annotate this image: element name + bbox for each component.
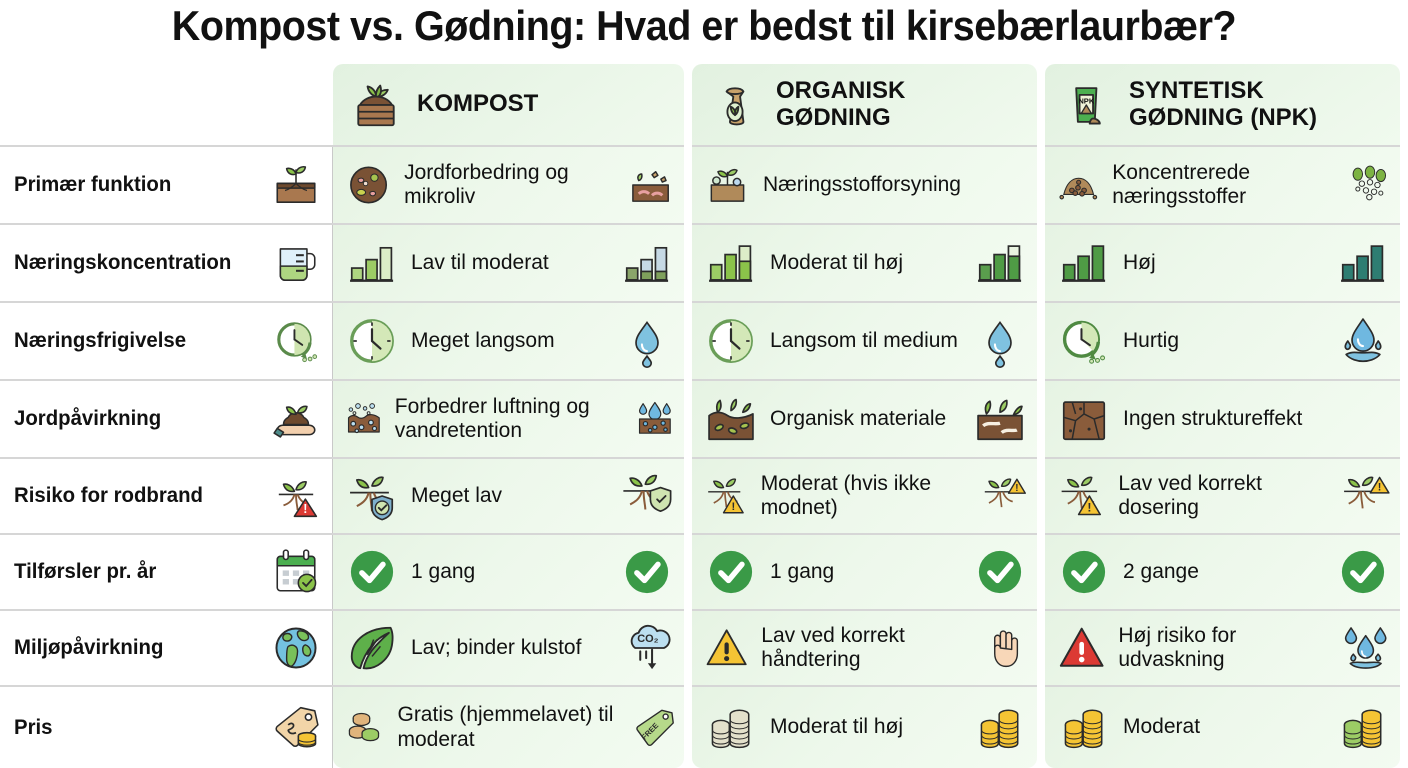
cell-text: 2 gange	[1123, 560, 1324, 584]
roots-shield-green-icon	[620, 469, 674, 523]
clock-slow-release-icon	[271, 316, 321, 366]
cell-syntetisk-jordpaavirkning: Ingen struktureffekt	[1045, 379, 1400, 457]
cell-text: Lav ved korrekt dosering	[1118, 472, 1328, 521]
cracked-soil-icon	[1057, 392, 1111, 446]
check-circle-icon	[1057, 545, 1111, 599]
cell-text: Høj risiko for udvaskning	[1118, 624, 1328, 673]
cell-text: Koncentrerede næringsstoffer	[1112, 161, 1334, 210]
cell-text: Næringsstofforsyning	[763, 173, 961, 197]
nutrient-uptake-plant-icon	[704, 158, 751, 212]
column-header-syntetisk[interactable]: NPK SYNTETISK GØDNING (NPK)	[1045, 64, 1400, 145]
row-label-risiko-for-rodbrand: Risiko for rodbrand !	[0, 457, 333, 533]
cell-text: Moderat	[1123, 715, 1324, 739]
aerated-soil-icon	[345, 392, 383, 446]
cell-text: Meget lav	[411, 484, 608, 508]
cell-text: Lav; binder kulstof	[411, 636, 608, 660]
row-label-tilfoersler-pr-aar: Tilførsler pr. år	[0, 533, 333, 609]
bar-chart-high-icon	[1057, 236, 1111, 290]
nutrient-granules-icon	[1347, 158, 1390, 212]
row-label-text: Miljøpåvirkning	[14, 636, 163, 659]
cell-organisk-primaer-funktion: Næringsstofforsyning	[692, 145, 1037, 223]
row-label-pris: Pris	[0, 685, 333, 768]
column-header-kompost-label: KOMPOST	[417, 91, 538, 118]
roots-shield-icon	[345, 469, 399, 523]
raised-hand-icon	[982, 621, 1027, 675]
cell-text: Hurtig	[1123, 329, 1324, 353]
warning-triangle-yellow-icon	[704, 621, 749, 675]
cell-text: 1 gang	[411, 560, 608, 584]
cell-kompost-miljoepaavirkning: Lav; binder kulstof CO₂	[333, 609, 684, 685]
cell-syntetisk-primaer-funktion: Koncentrerede næringsstoffer	[1045, 145, 1400, 223]
bar-chart-medium-filled-icon	[973, 236, 1027, 290]
column-header-organisk-label: ORGANISK GØDNING	[776, 78, 905, 132]
column-header-kompost[interactable]: KOMPOST	[333, 64, 684, 145]
row-label-text: Primær funktion	[14, 173, 171, 196]
check-circle-icon	[1336, 545, 1390, 599]
row-label-naeringskoncentration: Næringskoncentration	[0, 223, 333, 301]
warning-triangle-red-icon	[1057, 621, 1106, 675]
bar-chart-medium-icon	[704, 236, 758, 290]
header-organisk-line2: GØDNING	[776, 105, 905, 132]
organic-matter-soil-icon	[704, 392, 758, 446]
icon-spacer	[973, 158, 1027, 212]
cell-organisk-miljoepaavirkning: Lav ved korrekt håndtering	[692, 609, 1037, 685]
cell-text: Jordforbedring og mikroliv	[404, 161, 615, 210]
soil-microbes-icon	[345, 158, 392, 212]
row-label-text: Næringskoncentration	[14, 251, 231, 274]
coin-stacks-gold-icon	[1057, 701, 1111, 755]
clock-fast-icon	[1057, 314, 1111, 368]
coin-stacks-green-gold-icon	[1336, 701, 1390, 755]
svg-text:!: !	[1087, 500, 1091, 514]
cell-text: Høj	[1123, 251, 1324, 275]
cell-kompost-naeringsfrigivelse: Meget langsom	[333, 301, 684, 379]
cell-text: Moderat til høj	[770, 251, 961, 275]
row-label-miljoepaavirkning: Miljøpåvirkning	[0, 609, 333, 685]
granule-pile-icon	[1057, 158, 1100, 212]
cell-text: Organisk materiale	[770, 407, 961, 431]
price-tag-coins-icon	[271, 703, 321, 753]
calendar-check-icon	[271, 547, 321, 597]
svg-text:!: !	[731, 501, 735, 513]
measuring-jug-icon	[271, 238, 321, 288]
cell-syntetisk-tilfoersler: 2 gange	[1045, 533, 1400, 609]
globe-icon	[271, 623, 321, 673]
cell-text: Gratis (hjemmelavet) til moderat	[397, 703, 621, 752]
cell-text: Moderat til høj	[770, 715, 961, 739]
svg-text:!: !	[1016, 483, 1019, 494]
check-circle-icon	[704, 545, 758, 599]
page-title: Kompost vs. Gødning: Hvad er bedst til k…	[42, 2, 1366, 50]
free-tag-icon: FREE	[634, 701, 674, 755]
soil-compost-decompose-icon	[627, 158, 674, 212]
cell-text: Langsom til medium	[770, 329, 961, 353]
few-coins-icon	[345, 701, 385, 755]
hand-holding-soil-icon	[271, 394, 321, 444]
cell-text: Lav til moderat	[411, 251, 608, 275]
column-header-syntetisk-label: SYNTETISK GØDNING (NPK)	[1129, 78, 1317, 132]
check-circle-icon	[345, 545, 399, 599]
bar-chart-high-teal-icon	[1336, 236, 1390, 290]
row-label-naeringsfrigivelse: Næringsfrigivelse	[0, 301, 333, 379]
cell-text: Moderat (hvis ikke modnet)	[761, 472, 971, 521]
soil-worms-icon	[973, 392, 1027, 446]
bar-chart-low-filled-icon	[620, 236, 674, 290]
roots-warning-icon: !	[271, 471, 321, 521]
cell-text: Lav ved korrekt håndtering	[761, 624, 969, 673]
leaf-icon	[345, 621, 399, 675]
cell-kompost-risiko-for-rodbrand: Meget lav	[333, 457, 684, 533]
row-label-text: Tilførsler pr. år	[14, 560, 156, 583]
header-corner-blank	[0, 64, 333, 145]
infographic-page: Kompost vs. Gødning: Hvad er bedst til k…	[0, 0, 1408, 768]
cell-organisk-naeringsfrigivelse: Langsom til medium	[692, 301, 1037, 379]
cell-text: Ingen struktureffekt	[1123, 407, 1324, 431]
header-organisk-line1: ORGANISK	[776, 78, 905, 105]
comparison-table: KOMPOST ORGANISK GØDNING	[0, 64, 1408, 768]
check-circle-icon	[973, 545, 1027, 599]
roots-caution-icon: !	[1341, 469, 1390, 523]
seedling-in-soil-icon	[271, 160, 321, 210]
row-label-text: Risiko for rodbrand	[14, 484, 203, 507]
cell-kompost-jordpaavirkning: Forbedrer luftning og vandretention	[333, 379, 684, 457]
cell-syntetisk-naeringskoncentration: Høj	[1045, 223, 1400, 301]
cell-syntetisk-risiko-for-rodbrand: ! Lav ved korrekt dosering !	[1045, 457, 1400, 533]
fertilizer-bag-icon	[708, 78, 762, 132]
cell-organisk-naeringskoncentration: Moderat til høj	[692, 223, 1037, 301]
column-header-organisk[interactable]: ORGANISK GØDNING	[692, 64, 1037, 145]
water-drop-small-icon	[620, 314, 674, 368]
cell-organisk-tilfoersler: 1 gang	[692, 533, 1037, 609]
cell-syntetisk-naeringsfrigivelse: Hurtig	[1045, 301, 1400, 379]
cell-text: Forbedrer luftning og vandretention	[395, 395, 624, 444]
svg-text:NPK: NPK	[1078, 96, 1095, 105]
co2-cloud-down-icon: CO₂	[620, 621, 674, 675]
water-drop-small-icon	[973, 314, 1027, 368]
cell-syntetisk-miljoepaavirkning: Høj risiko for udvaskning	[1045, 609, 1400, 685]
svg-text:CO₂: CO₂	[637, 633, 658, 645]
clock-icon	[704, 314, 758, 368]
roots-caution-icon: !	[1057, 469, 1106, 523]
header-syntetisk-line2: GØDNING (NPK)	[1129, 105, 1317, 132]
cell-organisk-risiko-for-rodbrand: ! Moderat (hvis ikke modnet) !	[692, 457, 1037, 533]
row-label-text: Jordpåvirkning	[14, 407, 161, 430]
soil-water-retention-icon	[636, 392, 674, 446]
compost-bin-icon	[349, 78, 403, 132]
check-circle-icon	[620, 545, 674, 599]
row-label-jordpaavirkning: Jordpåvirkning	[0, 379, 333, 457]
cell-organisk-jordpaavirkning: Organisk materiale	[692, 379, 1037, 457]
row-label-text: Pris	[14, 716, 53, 739]
svg-text:!: !	[1377, 482, 1381, 494]
npk-bag-icon: NPK	[1061, 78, 1115, 132]
coin-stacks-pale-icon	[704, 701, 758, 755]
coin-stacks-gold-icon	[973, 701, 1027, 755]
water-leaching-icon	[1341, 621, 1390, 675]
bar-chart-low-icon	[345, 236, 399, 290]
cell-kompost-pris: Gratis (hjemmelavet) til moderat FREE	[333, 685, 684, 768]
row-label-text: Næringsfrigivelse	[14, 329, 186, 352]
roots-caution-icon: !	[704, 469, 749, 523]
row-label-primaer-funktion: Primær funktion	[0, 145, 333, 223]
cell-kompost-naeringskoncentration: Lav til moderat	[333, 223, 684, 301]
icon-spacer	[1336, 392, 1390, 446]
roots-caution-icon: !	[982, 469, 1027, 523]
cell-kompost-primaer-funktion: Jordforbedring og mikroliv	[333, 145, 684, 223]
cell-kompost-tilfoersler: 1 gang	[333, 533, 684, 609]
cell-syntetisk-pris: Moderat	[1045, 685, 1400, 768]
cell-organisk-pris: Moderat til høj	[692, 685, 1037, 768]
svg-text:!: !	[303, 502, 307, 516]
cell-text: 1 gang	[770, 560, 961, 584]
clock-icon	[345, 314, 399, 368]
header-syntetisk-line1: SYNTETISK	[1129, 78, 1317, 105]
water-splash-icon	[1336, 314, 1390, 368]
cell-text: Meget langsom	[411, 329, 608, 353]
